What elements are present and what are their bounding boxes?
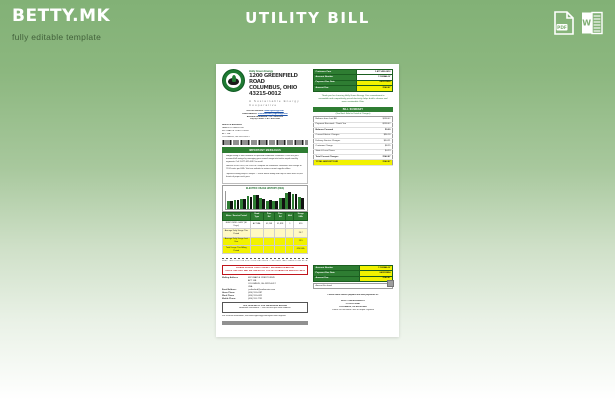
table-cell: [275, 237, 286, 245]
table-row: Average Daily Usage Last Year19.5: [223, 237, 308, 245]
usage-detail-table: Meter / Service PeriodRead TypePrev RdPr…: [222, 212, 308, 255]
pdf-file-icon[interactable]: PDF: [554, 11, 574, 35]
website-link[interactable]: www.hgenergy.com: [264, 110, 283, 112]
chart-bar: [262, 199, 265, 209]
chart-x-tick: FEB: [291, 210, 297, 211]
chart-x-tick: OCT: [265, 210, 271, 211]
chart-x-tick: JUL: [246, 210, 252, 211]
chart-bar-group: [253, 191, 259, 209]
column-header: Read Type: [250, 212, 263, 220]
table-cell: 41,208: [263, 220, 274, 228]
column-header: Pres Rd: [275, 212, 286, 220]
table-cell: 41,828: [275, 220, 286, 228]
chart-title: ELECTRIC USAGE HISTORY (kWh): [225, 188, 305, 190]
chart-bar-group: [259, 191, 265, 209]
table-cell: [263, 246, 274, 254]
table-cell: ACTUAL: [250, 220, 263, 228]
table-row: Total Usage This Billing Period620 kWh: [223, 246, 308, 254]
table-cell: [286, 229, 294, 237]
table-row: ELEC 03/08 - 04/07 (30 Days)ACTUAL41,208…: [223, 220, 308, 228]
chart-bar-group: [246, 191, 252, 209]
email-label: Email Address:: [242, 113, 257, 115]
account-header-table: Customer Care1-877-455-0012Account Numbe…: [313, 69, 393, 92]
account-info-label: Account Information:: [247, 116, 268, 118]
row-label: Amount Due: [314, 276, 360, 281]
chart-x-tick: AUG: [252, 210, 258, 211]
amount-enclosed-input[interactable]: Amount Enclosed: [313, 283, 393, 289]
table-cell: [286, 237, 294, 245]
table-cell: [263, 237, 274, 245]
chart-plot-area: [225, 191, 305, 210]
chart-x-tick: APR: [226, 210, 232, 211]
row-label: Amount Due: [314, 86, 357, 91]
svg-text:PDF: PDF: [557, 25, 567, 31]
paperless-optin-box[interactable]: YES, SIGN ME UP FOR PAPERLESS BILLING Au…: [222, 302, 308, 313]
chart-bar-group: [233, 191, 239, 209]
table-cell: [275, 229, 286, 237]
table-cell: 1: [286, 220, 294, 228]
table-cell: Average Daily Usage This Period: [223, 229, 251, 237]
table-cell: 620: [294, 220, 308, 228]
email-link[interactable]: customercare@hgenergy.com: [258, 113, 288, 115]
message-paragraph: Budget Billing is now available to quali…: [226, 155, 305, 164]
table-header-row: Meter / Service PeriodRead TypePrev RdPr…: [223, 212, 308, 220]
remit-title: Please make checks payable and mail paym…: [313, 294, 393, 297]
important-messages-section: IMPORTANT MESSAGES Budget Billing is now…: [222, 147, 308, 184]
contact-field-row[interactable]: Mobile Phone(614) 555-7731: [222, 298, 308, 301]
table-cell: [250, 246, 263, 254]
chart-bar-group: [292, 191, 298, 209]
chart-bar: [282, 198, 285, 208]
table-cell: [250, 237, 263, 245]
contact-field-label: Mobile Phone: [222, 298, 248, 301]
chart-x-tick: MAR: [298, 210, 304, 211]
chart-bar-group: [279, 191, 285, 209]
contact-update-section: PLEASE UPDATE YOUR CONTACT INFORMATION B…: [222, 265, 308, 325]
bill-summary-section: BILL SUMMARY (See Back Side for Detail o…: [313, 107, 393, 166]
table-cell: Average Daily Usage Last Year: [223, 237, 251, 245]
table-row: Average Daily Usage This Period20.7: [223, 229, 308, 237]
chart-bar: [243, 199, 246, 209]
summary-value: $142.87: [372, 160, 393, 165]
table-cell: Total Usage This Billing Period: [223, 246, 251, 254]
table-cell: [286, 246, 294, 254]
contact-field-value[interactable]: (614) 555-7731: [248, 298, 308, 301]
website-label: Visit our Website:: [246, 110, 263, 112]
chart-bar-group: [285, 191, 291, 209]
table-cell: [250, 229, 263, 237]
message-paragraph: Paperless billing keeps it simple — enro…: [226, 173, 305, 179]
company-logo-icon: [222, 69, 245, 92]
column-header: Usage kWh: [294, 212, 308, 220]
document-preview[interactable]: Holly Green Energy 1200 GREENFIELD ROADC…: [216, 64, 399, 337]
column-header: Prev Rd: [263, 212, 274, 220]
table-cell: ELEC 03/08 - 04/07 (30 Days): [223, 220, 251, 228]
chart-bar: [230, 201, 233, 208]
table-cell: 20.7: [294, 229, 308, 237]
pay-by-phone-label: Pay by Phone:: [250, 118, 264, 120]
bill-summary-table: Balance from Last Bill$138.42Payment Rec…: [313, 116, 393, 165]
return-mark-icon: [387, 280, 394, 287]
green-thankyou-note: Thank you for choosing Holly Green Energ…: [313, 92, 393, 107]
chart-bar: [237, 200, 240, 208]
chart-x-tick: SEP: [259, 210, 265, 211]
usage-history-chart: ELECTRIC USAGE HISTORY (kWh) APRMAYJUNJU…: [222, 185, 308, 212]
chart-bar-group: [272, 191, 278, 209]
column-header: Mult: [286, 212, 294, 220]
remit-address-line: Please Do Not Send Cash or Staple Paymen…: [313, 309, 393, 312]
chart-bar: [301, 198, 304, 209]
chart-bar-group: [240, 191, 246, 209]
chart-bar: [275, 201, 278, 208]
chart-bar: [256, 195, 259, 209]
service-address-block: SERVICE ADDRESS JAMES RUTHERFORD 4821 MA…: [222, 124, 308, 145]
payment-stub-section: Account Number7-182846-07Payment Due Dat…: [313, 265, 393, 325]
chart-bar: [295, 194, 298, 208]
contact-fields-list[interactable]: Mailing Address4821 MAPLE CREST DRIVEAPT…: [222, 277, 308, 301]
account-info-phone: 1-877-455-0012: [268, 116, 283, 118]
pay-by-phone-number: 1-877-455-0188: [265, 118, 280, 120]
customer-address-line3: COLUMBUS, OH 43229-4417: [222, 136, 308, 139]
chart-bar-group: [227, 191, 233, 209]
chart-x-axis: APRMAYJUNJULAUGSEPOCTNOVDECJANFEBMAR: [225, 210, 305, 211]
tear-off-note: KEEP THIS PORTION FOR YOUR RECORDS — RET…: [222, 260, 308, 263]
amount-enclosed-label: Amount Enclosed: [314, 284, 392, 288]
contact-update-subheading: THIS IS THE ONLY WAY WE CAN NOTIFY YOU O…: [225, 270, 305, 273]
remit-address-lines: HOLLY GREEN ENERGYPO BOX 90881COLUMBUS, …: [313, 300, 393, 312]
bill-header-left: Holly Green Energy 1200 GREENFIELD ROADC…: [222, 69, 308, 263]
chart-x-tick: JAN: [285, 210, 291, 211]
chart-bar: [269, 200, 272, 208]
payment-stub-table: Account Number7-182846-07Payment Due Dat…: [313, 265, 393, 282]
table-cell: [263, 229, 274, 237]
word-file-icon[interactable]: W: [581, 11, 601, 35]
chart-x-tick: MAY: [233, 210, 239, 211]
svg-text:W: W: [582, 19, 591, 28]
postal-barcode-icon: [222, 140, 308, 145]
chart-bar: [250, 197, 253, 209]
chart-x-tick: DEC: [278, 210, 284, 211]
table-cell: [275, 246, 286, 254]
payment-scanline-barcode-icon: [222, 321, 308, 325]
column-header: Meter / Service Period: [223, 212, 251, 220]
file-format-icons: PDF W: [554, 11, 601, 35]
bill-header-right: Customer Care1-877-455-0012Account Numbe…: [313, 69, 393, 263]
paperless-optin-note: Automatic enrollment — one account per e…: [225, 307, 305, 310]
table-row: Amount Due$142.87: [314, 276, 393, 281]
page-title: UTILITY BILL: [0, 9, 615, 27]
company-address: 1200 GREENFIELD ROADCOLUMBUS, OHIO 43215…: [249, 73, 308, 97]
company-tagline: A Sustainable Energy Cooperative: [249, 99, 308, 107]
message-paragraph: Effective 05/01/2024, the Price to Compa…: [226, 165, 305, 171]
brand-tagline: fully editable template: [12, 32, 110, 42]
summary-label: TOTAL AMOUNT DUE: [314, 160, 372, 165]
account-footer-note: For account information, visit www.hgene…: [222, 315, 308, 318]
chart-bar-group: [298, 191, 304, 209]
chart-x-tick: JUN: [239, 210, 245, 211]
table-row: Amount Due$142.87: [314, 86, 393, 91]
company-contact-block: Visit our Website: www.hgenergy.com Emai…: [222, 110, 308, 122]
table-cell: 620 kWh: [294, 246, 308, 254]
chart-bar-group: [266, 191, 272, 209]
chart-bar: [288, 192, 291, 208]
chart-x-tick: NOV: [272, 210, 278, 211]
row-value: $142.87: [356, 86, 392, 91]
table-cell: 19.5: [294, 237, 308, 245]
table-row: TOTAL AMOUNT DUE$142.87: [314, 160, 393, 165]
